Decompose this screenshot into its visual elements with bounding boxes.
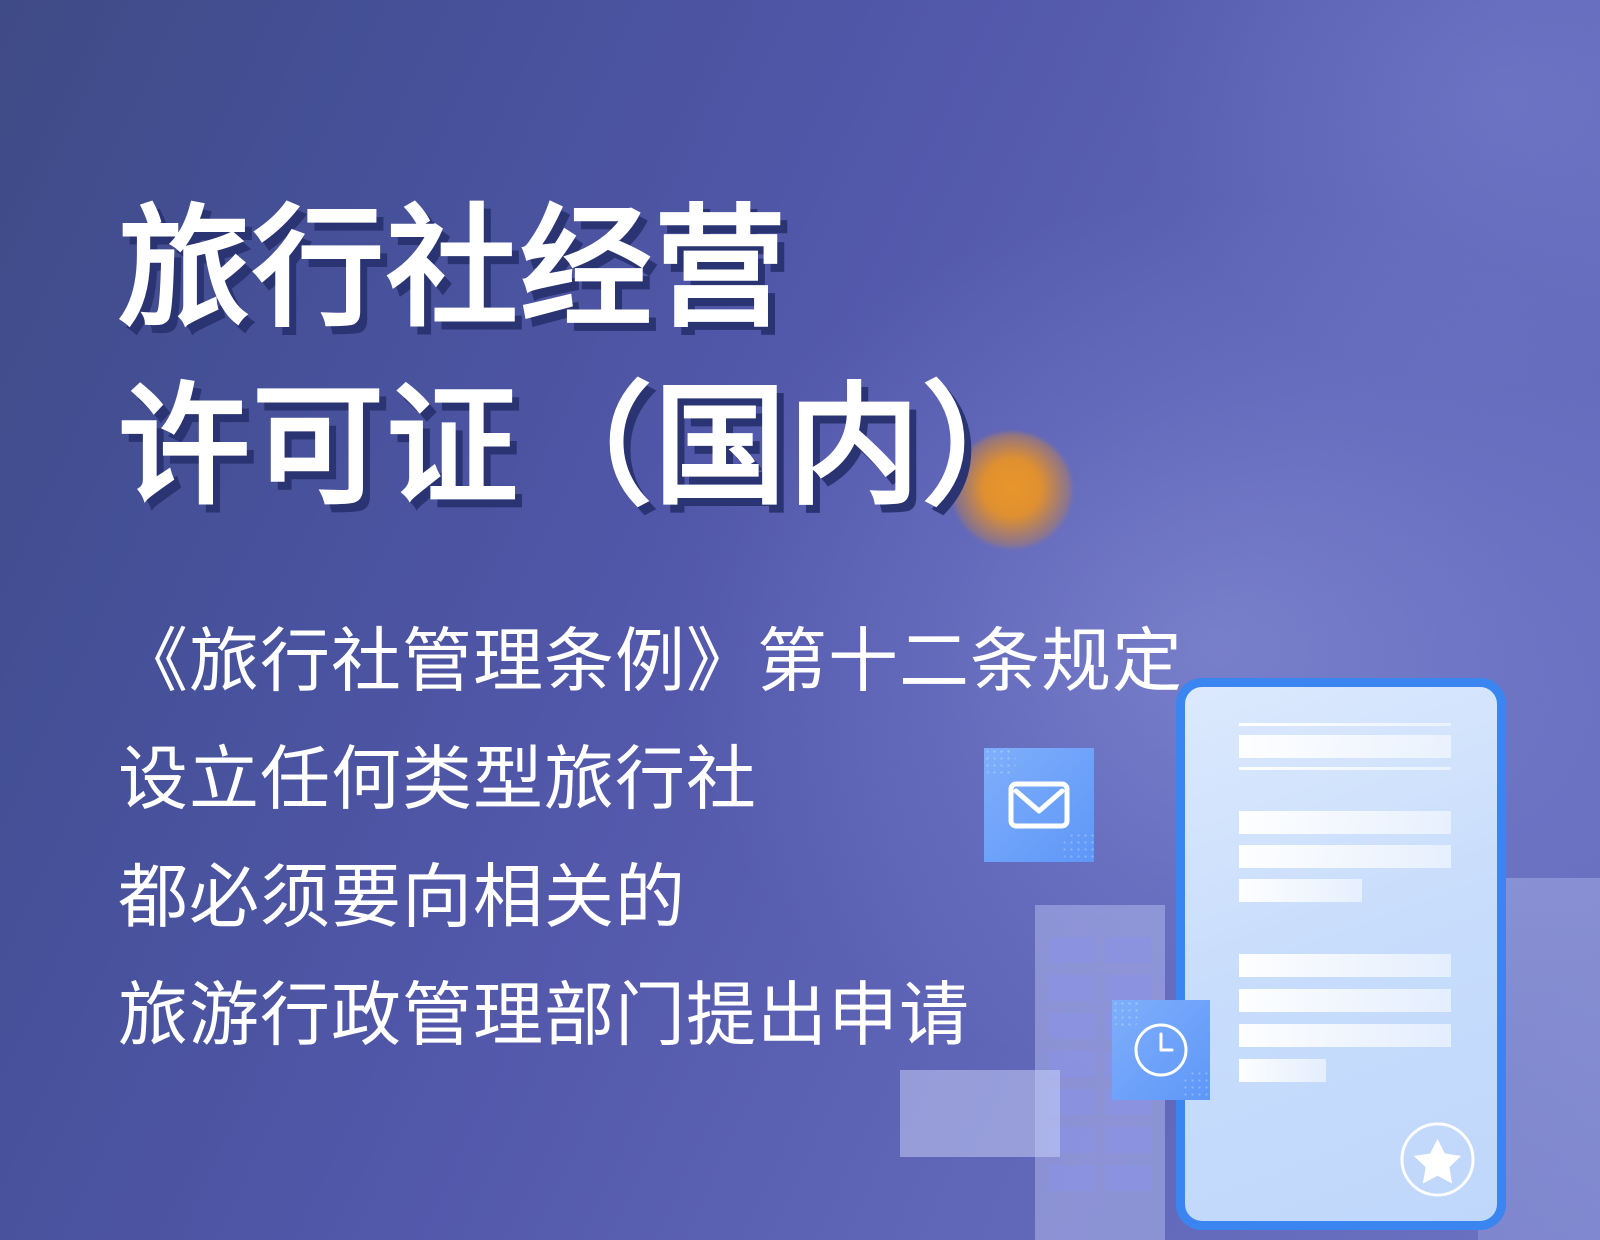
envelope-icon <box>1007 780 1071 830</box>
illustration-group <box>880 600 1600 1240</box>
building-window <box>1049 1013 1095 1039</box>
doc-line-rule <box>1239 723 1451 726</box>
building-window <box>1105 937 1151 963</box>
building-base-block <box>900 1070 1060 1157</box>
title-line-2: 许可证（国内） <box>118 358 1178 536</box>
building-window <box>1105 1165 1151 1191</box>
building-window <box>1049 1165 1095 1191</box>
doc-line-bar <box>1239 735 1451 758</box>
clock-tile <box>1112 1000 1210 1100</box>
doc-line-bar <box>1239 954 1451 977</box>
building-window <box>1049 937 1095 963</box>
document-card <box>1176 678 1506 1230</box>
doc-line-bar-short <box>1239 879 1362 902</box>
doc-line-rule <box>1239 767 1451 770</box>
page-title: 旅行社经营 许可证（国内） <box>118 180 1178 536</box>
clock-icon <box>1130 1019 1192 1081</box>
document-text-lines <box>1239 723 1451 1082</box>
doc-line-bar-short <box>1239 1059 1326 1082</box>
doc-line-bar <box>1239 1024 1451 1047</box>
building-window <box>1049 975 1095 1001</box>
star-badge-icon <box>1398 1120 1477 1199</box>
title-line-1: 旅行社经营 <box>118 180 1178 358</box>
doc-line-bar <box>1239 811 1451 834</box>
building-window <box>1105 1127 1151 1153</box>
building-window <box>1105 975 1151 1001</box>
doc-line-bar <box>1239 845 1451 868</box>
doc-line-bar <box>1239 989 1451 1012</box>
envelope-tile <box>984 748 1094 862</box>
poster-canvas: 旅行社经营 许可证（国内） 《旅行社管理条例》第十二条规定 设立任何类型旅行社 … <box>0 0 1600 1240</box>
